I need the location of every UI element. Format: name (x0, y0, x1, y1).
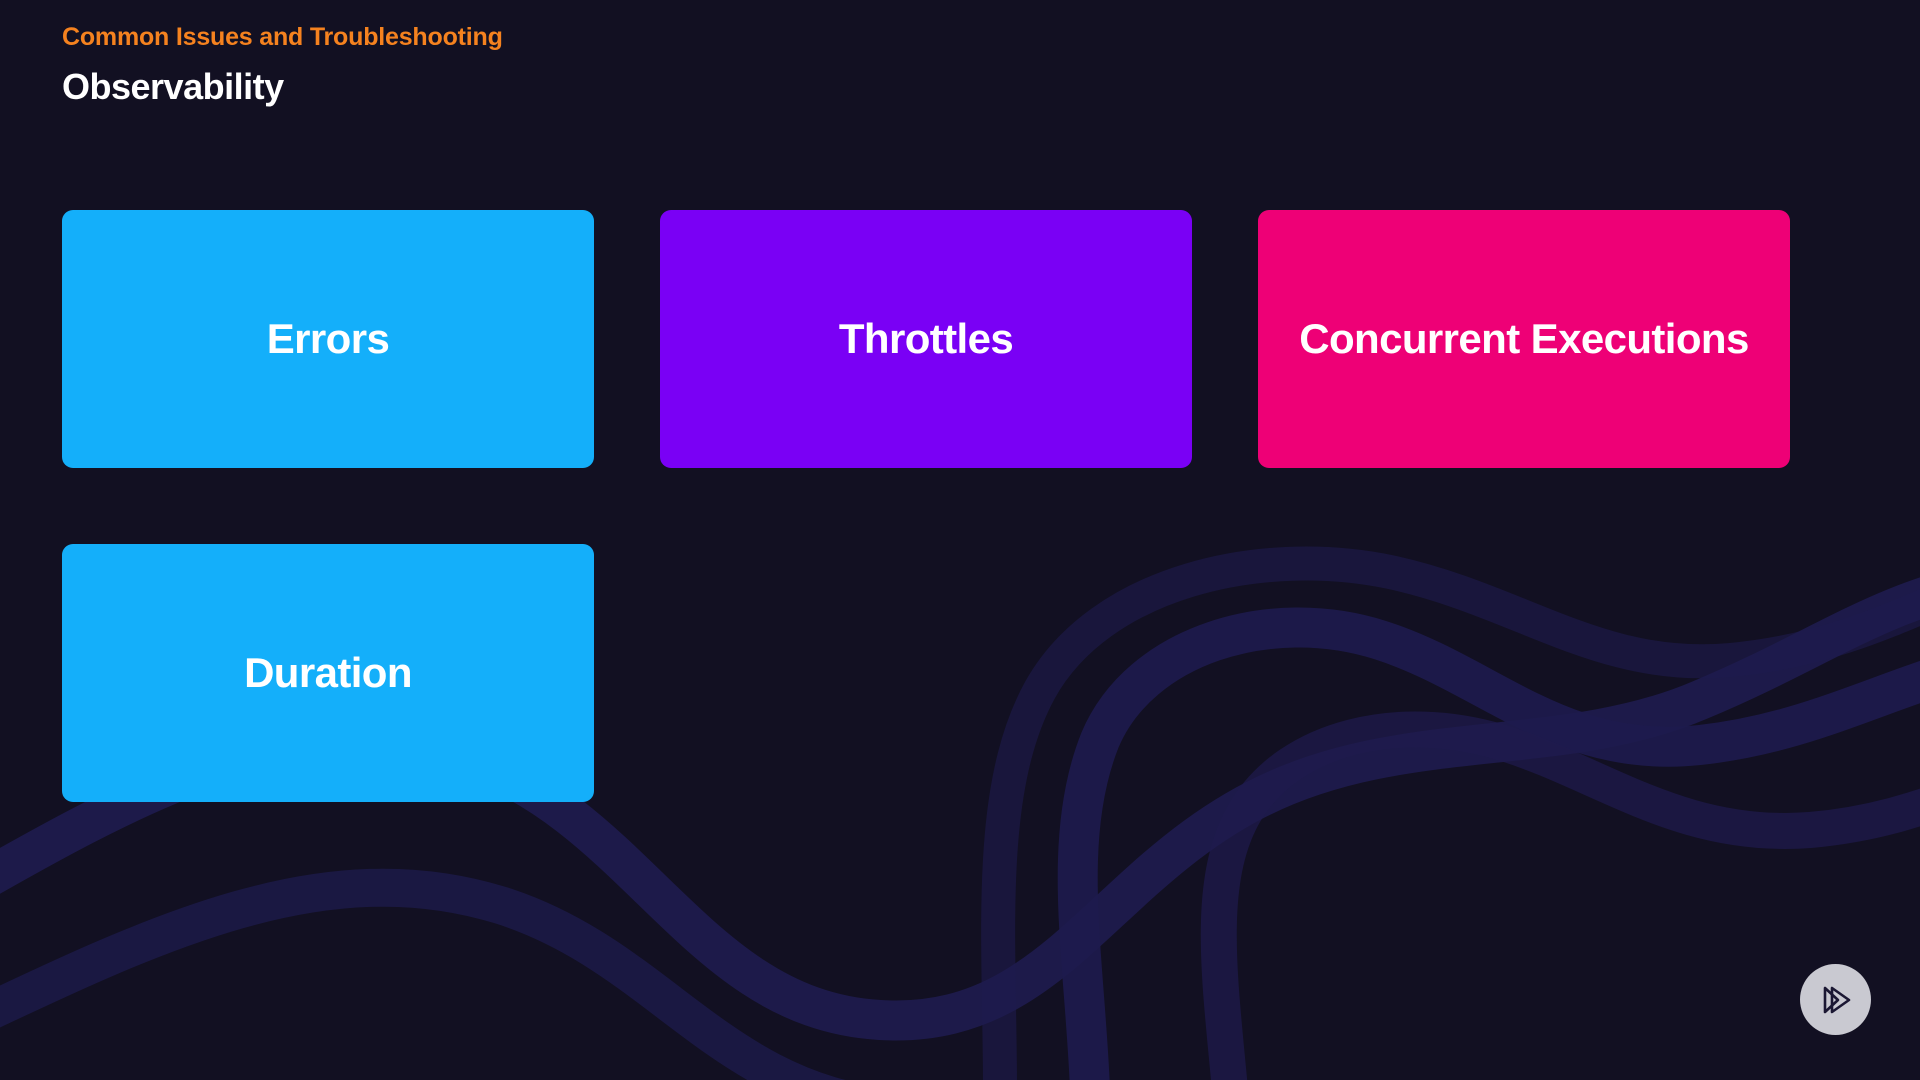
metric-card-grid: Errors Throttles Concurrent Executions D… (62, 210, 1772, 802)
logo-badge[interactable] (1800, 964, 1871, 1035)
slide-canvas: Common Issues and Troubleshooting Observ… (0, 0, 1920, 1080)
eyebrow-label: Common Issues and Troubleshooting (62, 22, 1920, 53)
metric-card-duration[interactable]: Duration (62, 544, 594, 802)
metric-card-concurrent-executions[interactable]: Concurrent Executions (1258, 210, 1790, 468)
metric-card-label: Concurrent Executions (1299, 315, 1748, 363)
metric-card-label: Duration (244, 649, 412, 697)
metric-card-throttles[interactable]: Throttles (660, 210, 1192, 468)
metric-card-label: Throttles (839, 315, 1013, 363)
double-play-triangle-icon (1816, 980, 1856, 1020)
metric-card-errors[interactable]: Errors (62, 210, 594, 468)
metric-card-label: Errors (267, 315, 389, 363)
slide-header: Common Issues and Troubleshooting Observ… (62, 22, 1920, 111)
page-title: Observability (62, 64, 1920, 111)
